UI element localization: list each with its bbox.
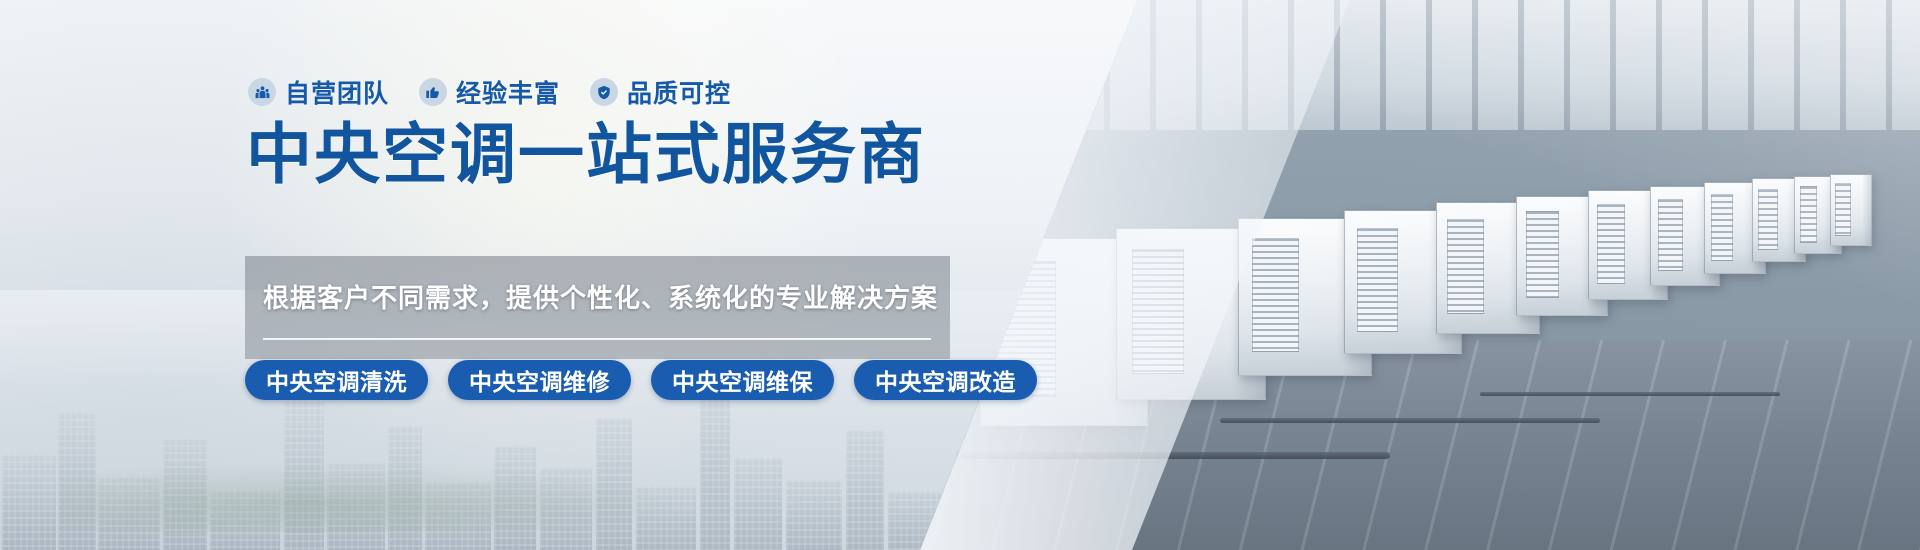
service-pill-group: 中央空调清洗 中央空调维修 中央空调维保 中央空调改造 — [245, 360, 1037, 400]
tagline-label: 自营团队 — [285, 74, 389, 110]
tagline-item-self-team: 自营团队 — [248, 74, 389, 110]
service-pill-cleaning[interactable]: 中央空调清洗 — [245, 360, 428, 400]
tagline-item-quality: 品质可控 — [590, 74, 731, 110]
tagline-label: 品质可控 — [627, 74, 731, 110]
service-pill-retrofit[interactable]: 中央空调改造 — [854, 360, 1037, 400]
thumbs-up-icon — [419, 78, 447, 106]
subtitle-panel: 根据客户不同需求，提供个性化、系统化的专业解决方案 — [245, 256, 950, 359]
page-title: 中央空调一站式服务商 — [246, 118, 926, 192]
tagline-row: 自营团队 经验丰富 品质可控 — [248, 74, 731, 110]
tagline-item-experience: 经验丰富 — [419, 74, 560, 110]
subtitle-text: 根据客户不同需求，提供个性化、系统化的专业解决方案 — [263, 278, 938, 315]
tagline-label: 经验丰富 — [456, 74, 560, 110]
people-group-icon — [248, 78, 276, 106]
service-pill-repair[interactable]: 中央空调维修 — [448, 360, 631, 400]
shield-check-icon — [590, 78, 618, 106]
service-pill-maintenance[interactable]: 中央空调维保 — [651, 360, 834, 400]
hero-banner: 自营团队 经验丰富 品质可控 — [0, 0, 1920, 550]
panel-divider — [263, 338, 931, 340]
banner-content: 自营团队 经验丰富 品质可控 — [0, 0, 1920, 550]
